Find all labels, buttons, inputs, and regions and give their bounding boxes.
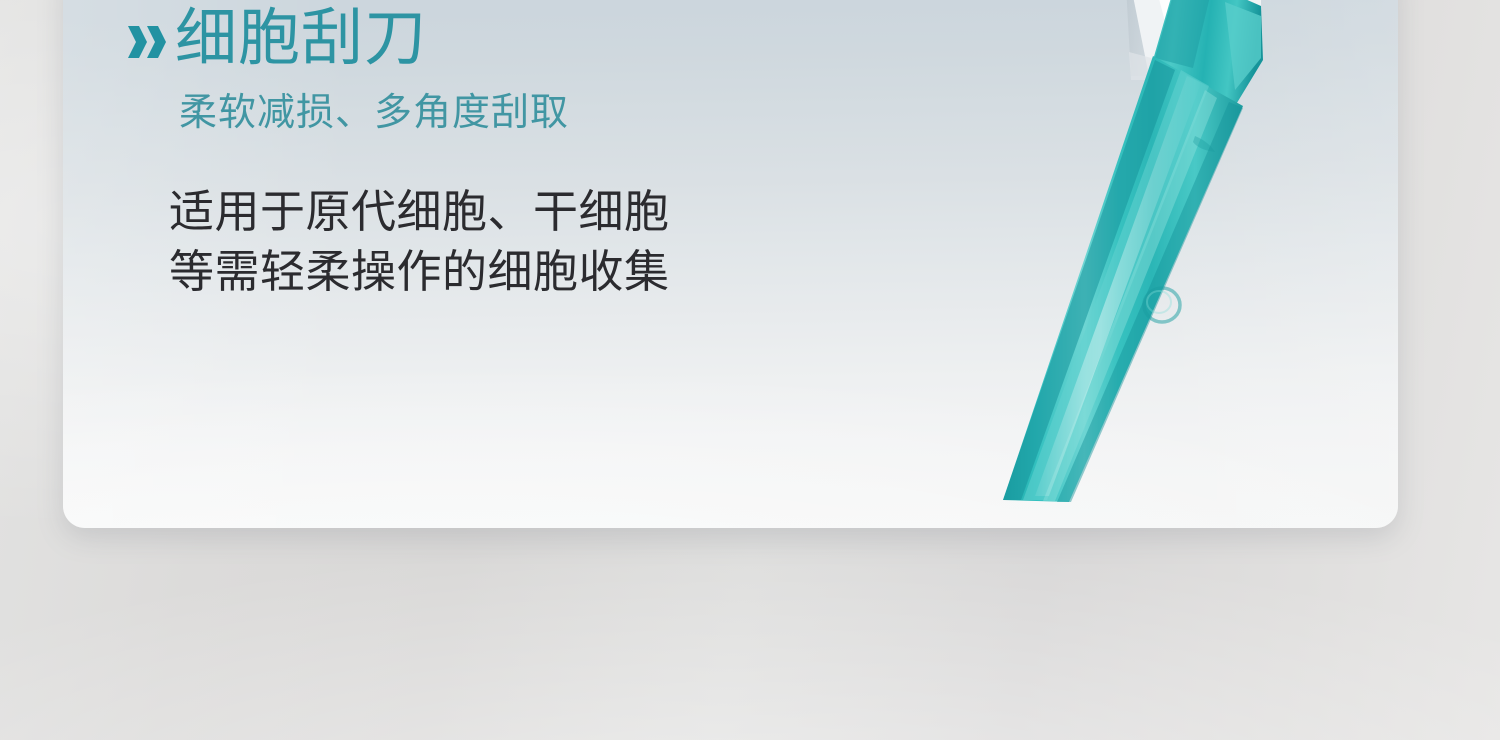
double-chevron-right-icon [125,18,167,66]
body-line-1: 适用于原代细胞、干细胞 [169,182,885,242]
title-row: 细胞刮刀 [125,0,885,78]
mold-mark-handle [1144,288,1180,322]
body-line-2: 等需轻柔操作的细胞收集 [169,242,885,302]
scraper-blade-head [1129,0,1261,80]
body-text: 适用于原代细胞、干细胞 等需轻柔操作的细胞收集 [169,182,885,302]
mold-mark-head [1198,5,1240,31]
subtitle: 柔软减损、多角度刮取 [179,94,885,132]
page-root: 细胞刮刀 柔软减损、多角度刮取 适用于原代细胞、干细胞 等需轻柔操作的细胞收集 [0,0,1500,740]
feature-card: 细胞刮刀 柔软减损、多角度刮取 适用于原代细胞、干细胞 等需轻柔操作的细胞收集 [63,0,1398,528]
card-text-block: 细胞刮刀 柔软减损、多角度刮取 适用于原代细胞、干细胞 等需轻柔操作的细胞收集 [125,0,885,302]
scraper-handle [1003,0,1263,502]
page-title: 细胞刮刀 [175,8,427,70]
cell-scraper-photo [943,0,1363,528]
